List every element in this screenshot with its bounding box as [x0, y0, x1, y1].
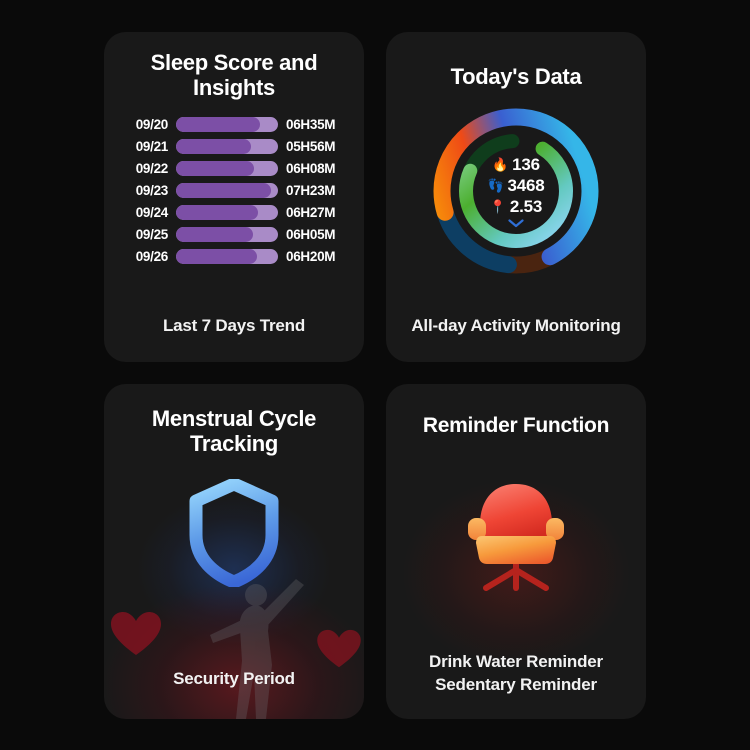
sleep-row: 09/23 07H23M	[122, 181, 346, 199]
sleep-row-date: 09/22	[122, 161, 168, 176]
sleep-row-date: 09/21	[122, 139, 168, 154]
cycle-card-title: Menstrual Cycle Tracking	[104, 406, 364, 458]
sleep-row-value: 06H27M	[286, 205, 346, 220]
reminder-caption-line-2: Sedentary Reminder	[396, 674, 636, 697]
stat-distance: 📍 2.53	[490, 197, 542, 217]
sleep-row: 09/26 06H20M	[122, 247, 346, 265]
sleep-row-bar	[176, 161, 278, 176]
sleep-row-bar	[176, 183, 278, 198]
chevron-down-icon[interactable]	[508, 219, 524, 228]
heart-icon-left	[110, 611, 162, 657]
activity-rings-center: 🔥 136 👣 3468 📍 2.53	[428, 103, 604, 279]
sleep-row-bar-fill	[176, 139, 251, 154]
sleep-row: 09/24 06H27M	[122, 203, 346, 221]
sleep-row-value: 06H35M	[286, 117, 346, 132]
today-card-caption: All-day Activity Monitoring	[401, 315, 630, 338]
sleep-row-bar-fill	[176, 161, 254, 176]
sleep-row-bar	[176, 139, 278, 154]
sleep-row-date: 09/26	[122, 249, 168, 264]
sleep-trend-chart: 09/20 06H35M 09/21 05H56M 09/22	[104, 115, 364, 265]
sleep-card-title: Sleep Score and Insights	[104, 50, 364, 102]
sleep-row-bar-fill	[176, 249, 257, 264]
shield-icon	[188, 479, 280, 592]
sleep-row-value: 06H20M	[286, 249, 346, 264]
card-sleep-score[interactable]: Sleep Score and Insights 09/20 06H35M 09…	[104, 32, 364, 362]
sleep-row: 09/21 05H56M	[122, 137, 346, 155]
sleep-row-bar	[176, 249, 278, 264]
sleep-row: 09/20 06H35M	[122, 115, 346, 133]
stat-distance-value: 2.53	[510, 197, 542, 217]
sleep-row: 09/22 06H08M	[122, 159, 346, 177]
sleep-row-value: 06H05M	[286, 227, 346, 242]
stat-steps: 👣 3468	[487, 176, 544, 196]
sleep-row-bar-fill	[176, 183, 271, 198]
sleep-row-bar-fill	[176, 117, 260, 132]
stat-calories-value: 136	[512, 155, 540, 175]
sleep-row-date: 09/20	[122, 117, 168, 132]
office-chair-icon	[464, 478, 568, 599]
heart-icon-right	[316, 629, 362, 669]
sleep-row-value: 07H23M	[286, 183, 346, 198]
activity-rings-chart[interactable]: 🔥 136 👣 3468 📍 2.53	[428, 103, 604, 279]
sleep-row-date: 09/25	[122, 227, 168, 242]
sleep-row-bar	[176, 227, 278, 242]
sleep-row-bar-fill	[176, 227, 253, 242]
cycle-card-caption: Security Period	[104, 668, 364, 691]
sleep-row-bar	[176, 205, 278, 220]
flame-icon: 🔥	[492, 158, 506, 171]
stat-steps-value: 3468	[507, 176, 544, 196]
card-todays-data[interactable]: Today's Data	[386, 32, 646, 362]
sleep-row-bar-fill	[176, 205, 258, 220]
reminder-caption-line-1: Drink Water Reminder	[396, 651, 636, 674]
sleep-row: 09/25 06H05M	[122, 225, 346, 243]
today-card-title: Today's Data	[437, 64, 596, 90]
location-icon: 📍	[490, 200, 504, 213]
footsteps-icon: 👣	[487, 179, 501, 192]
card-reminder-function[interactable]: Reminder Function	[386, 384, 646, 719]
sleep-row-value: 05H56M	[286, 139, 346, 154]
card-menstrual-cycle[interactable]: Menstrual Cycle Tracking	[104, 384, 364, 719]
sleep-card-caption: Last 7 Days Trend	[153, 315, 315, 338]
sleep-row-value: 06H08M	[286, 161, 346, 176]
reminder-card-caption: Drink Water Reminder Sedentary Reminder	[386, 651, 646, 697]
feature-grid-page: Sleep Score and Insights 09/20 06H35M 09…	[0, 0, 750, 750]
sleep-row-bar	[176, 117, 278, 132]
sleep-row-date: 09/23	[122, 183, 168, 198]
stat-calories: 🔥 136	[492, 155, 540, 175]
reminder-card-title: Reminder Function	[409, 414, 623, 439]
sleep-row-date: 09/24	[122, 205, 168, 220]
feature-card-grid: Sleep Score and Insights 09/20 06H35M 09…	[104, 32, 646, 719]
